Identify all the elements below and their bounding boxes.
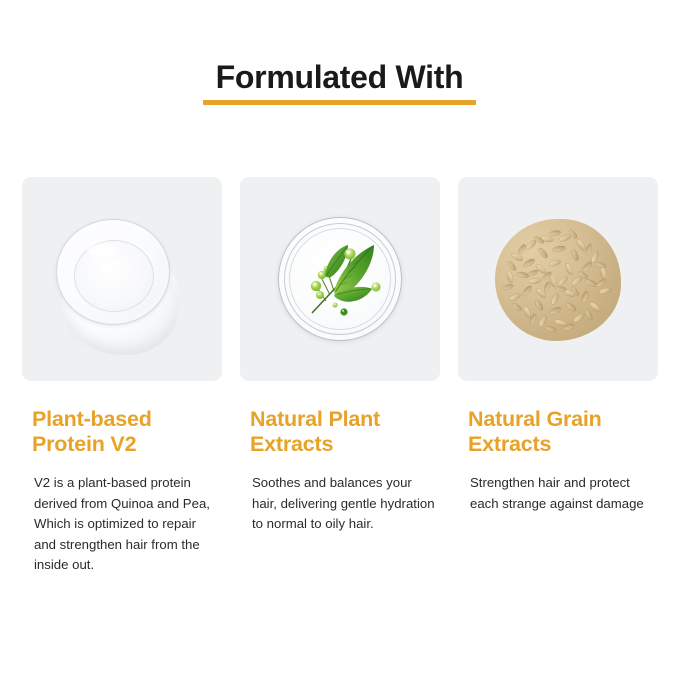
ingredient-card-plant-based-protein: Plant-based Protein V2 V2 is a plant-bas…	[22, 177, 222, 576]
petri-dish-leaves-image	[240, 177, 440, 381]
card-title: Natural Grain Extracts	[468, 407, 650, 457]
card-body-text: Soothes and balances your hair, deliveri…	[252, 473, 436, 535]
grain-pile-image	[458, 177, 658, 381]
grain-pile-mass	[495, 219, 621, 341]
card-title: Natural Plant Extracts	[250, 407, 432, 457]
leaf-graphic	[278, 217, 402, 341]
petri-dish-illustration	[278, 217, 402, 341]
page-title: Formulated With	[214, 57, 466, 97]
gel-drop-ring	[56, 219, 170, 325]
grain-pile-illustration	[495, 219, 621, 341]
page-header: Formulated With	[0, 57, 679, 105]
ingredient-card-list: Plant-based Protein V2 V2 is a plant-bas…	[22, 177, 659, 576]
clear-gel-drop-image	[22, 177, 222, 381]
card-body-text: V2 is a plant-based protein derived from…	[34, 473, 218, 576]
grain-kernels-graphic	[495, 219, 621, 341]
card-body-text: Strengthen hair and protect each strange…	[470, 473, 654, 514]
title-underline	[203, 100, 476, 105]
ingredient-card-natural-grain-extracts: Natural Grain Extracts Strengthen hair a…	[458, 177, 658, 576]
gel-drop-illustration	[56, 219, 188, 357]
gel-drop-highlight	[87, 244, 117, 257]
card-title: Plant-based Protein V2	[32, 407, 214, 457]
ingredient-card-natural-plant-extracts: Natural Plant Extracts Soothes and balan…	[240, 177, 440, 576]
